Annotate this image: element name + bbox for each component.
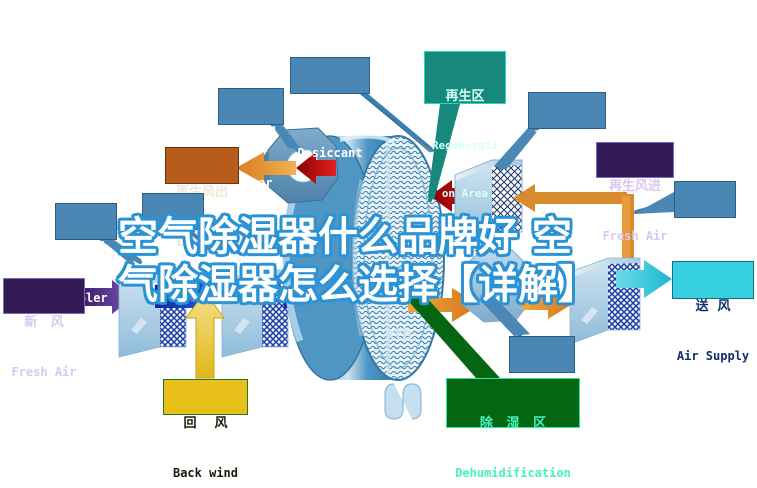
label-regeneration-area-en1: Regenerati <box>425 140 505 152</box>
label-cooler-left-upper-en: Cooler <box>143 282 203 295</box>
label-cooler-left: 冷却器 Cooler <box>55 203 117 240</box>
label-cooler-right-cn: 冷却器 <box>675 220 735 235</box>
label-fresh-air-cn: 新 风 <box>4 316 84 331</box>
label-back-wind-cn: 回 风 <box>164 417 247 432</box>
label-regen-fresh-air-cn: 再生风进 <box>597 180 673 195</box>
label-dehumidification-district-en1: Dehumidification <box>447 467 579 480</box>
drain-pan <box>385 384 421 419</box>
label-air-supply-cn: 送 风 <box>673 300 753 315</box>
label-dehumidify-blower: 除湿风机 Blower <box>509 336 575 373</box>
label-exhaust: 再生风出 Exhaust <box>165 147 239 184</box>
label-desiccant-rotor-cn: 除湿转轮 <box>291 96 369 112</box>
label-regeneration-heater: 再生加热器 heater <box>528 92 606 129</box>
label-fresh-air-in: 新 风 Fresh Air <box>3 278 85 314</box>
label-regen-fresh-air-en: Fresh Air <box>597 230 673 243</box>
label-fresh-air-en: Fresh Air <box>4 366 84 379</box>
label-regeneration-blower-cn: 再生风机 <box>219 127 283 142</box>
label-air-supply-en: Air Supply <box>673 350 753 363</box>
label-desiccant-rotor-en: Desiccant <box>291 147 369 160</box>
label-dehumidification-district: 除 湿 区 Dehumidification District <box>446 378 580 428</box>
label-back-wind-en: Back wind <box>164 467 247 480</box>
label-regeneration-area: 再生区 Regenerati on Area <box>424 51 506 104</box>
label-desiccant-rotor: 除湿转轮 Desiccant <box>290 57 370 94</box>
label-back-wind: 回 风 Back wind <box>163 379 248 415</box>
label-cooler-left-upper-cn: 冷却器 <box>143 232 203 247</box>
label-regeneration-blower: 再生风机 Blower <box>218 88 284 125</box>
label-regeneration-heater-en: heater <box>529 181 605 194</box>
label-cooler-right: 冷却器 Cooler <box>674 181 736 218</box>
label-dehumidification-district-cn: 除 湿 区 <box>447 417 579 432</box>
label-air-supply: 送 风 Air Supply <box>672 261 754 299</box>
label-regeneration-fresh-air-in: 再生风进 Fresh Air <box>596 142 674 178</box>
label-regeneration-area-cn: 再生区 <box>425 90 505 105</box>
label-cooler-left-cn: 冷却器 <box>56 242 116 257</box>
label-regeneration-heater-cn: 再生加热器 <box>529 131 605 146</box>
diagram-canvas: xth 除湿转轮 Desiccant 再生风机 Blower 再生区 Regen… <box>0 0 757 488</box>
label-cooler-left-upper: 冷却器 Cooler <box>142 193 204 230</box>
label-regeneration-area-en2: on Area <box>425 188 505 200</box>
